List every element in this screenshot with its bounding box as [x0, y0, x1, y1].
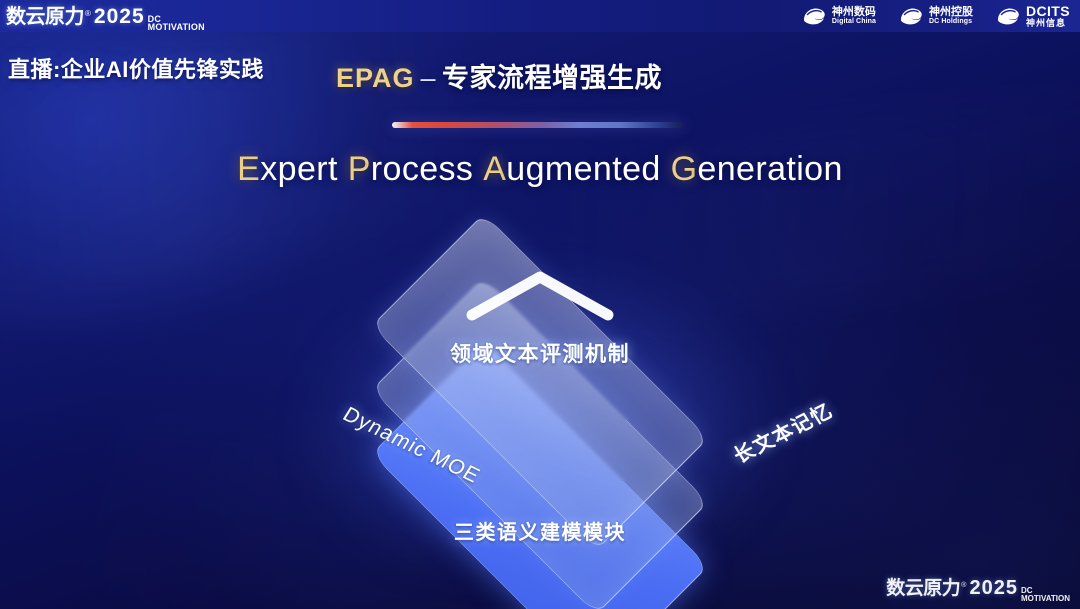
subtitle-word-generation: eneration — [697, 150, 842, 188]
partner-name-en: 神州信息 — [1026, 19, 1070, 28]
title-dash: – — [421, 63, 437, 93]
partner-logo-dcits: DCITS 神州信息 — [995, 4, 1070, 27]
partner-text: 神州数码 Digital China — [832, 7, 876, 25]
swirl-logo-icon — [898, 5, 924, 27]
top-bar: 数云原力® 2025 DC MOTIVATION 神州数码 Digital Ch… — [0, 0, 1080, 32]
brand-logo-year: 2025 — [94, 5, 145, 29]
subtitle-initial-p: P — [348, 150, 371, 188]
swirl-logo-icon — [801, 5, 827, 27]
title-divider — [392, 122, 684, 131]
partner-name-cn: DCITS — [1026, 4, 1070, 18]
subtitle-initial-e: E — [237, 150, 260, 188]
title-chinese: 专家流程增强生成 — [442, 63, 662, 93]
brand-logo-dc-motivation: DC MOTIVATION — [148, 15, 205, 32]
partner-text: 神州控股 DC Holdings — [929, 7, 973, 25]
slide-stage: 数云原力® 2025 DC MOTIVATION 神州数码 Digital Ch… — [0, 0, 1080, 609]
partner-logos: 神州数码 Digital China 神州控股 DC Holdings — [801, 4, 1070, 27]
subtitle-initial-a: A — [483, 150, 506, 188]
brand-logo: 数云原力® 2025 DC MOTIVATION — [6, 0, 205, 32]
gradient-rule — [392, 122, 684, 128]
brand-logo-cn: 数云原力 — [6, 0, 84, 29]
brand-dc-line2: MOTIVATION — [148, 23, 205, 31]
partner-text: DCITS 神州信息 — [1026, 4, 1070, 27]
subtitle-word-expert: xpert — [260, 150, 338, 188]
title-abbreviation: EPAG — [336, 63, 415, 93]
partner-name-en: DC Holdings — [929, 18, 973, 25]
layered-architecture-diagram: 领域文本评测机制 Dynamic MOE 长文本记忆 三类语义建模模块 — [275, 225, 805, 570]
watermark-dc-line2: MOTIVATION — [1021, 595, 1070, 602]
corner-watermark-logo: 数云原力® 2025 DC MOTIVATION — [886, 573, 1070, 603]
subtitle-word-process: rocess — [371, 150, 474, 188]
partner-logo-dc-holdings: 神州控股 DC Holdings — [898, 5, 973, 27]
brand-registered-mark: ® — [85, 9, 91, 18]
watermark-cn: 数云原力 — [886, 573, 960, 600]
swirl-logo-icon — [995, 5, 1021, 27]
partner-name-cn: 神州数码 — [832, 7, 876, 18]
watermark-year: 2025 — [969, 577, 1018, 600]
watermark-registered-mark: ® — [961, 582, 966, 589]
live-stream-label: 直播:企业AI价值先锋实践 — [8, 52, 264, 84]
subtitle-word-augmented: ugmented — [506, 150, 660, 188]
watermark-dc-motivation: DC MOTIVATION — [1021, 587, 1070, 602]
subtitle-expansion: Expert Process Augmented Generation — [0, 150, 1080, 189]
subtitle-initial-g: G — [671, 150, 698, 188]
partner-name-cn: 神州控股 — [929, 7, 973, 18]
partner-name-en: Digital China — [832, 18, 876, 25]
page-title: EPAG–专家流程增强生成 — [336, 56, 662, 95]
partner-logo-digital-china: 神州数码 Digital China — [801, 5, 876, 27]
